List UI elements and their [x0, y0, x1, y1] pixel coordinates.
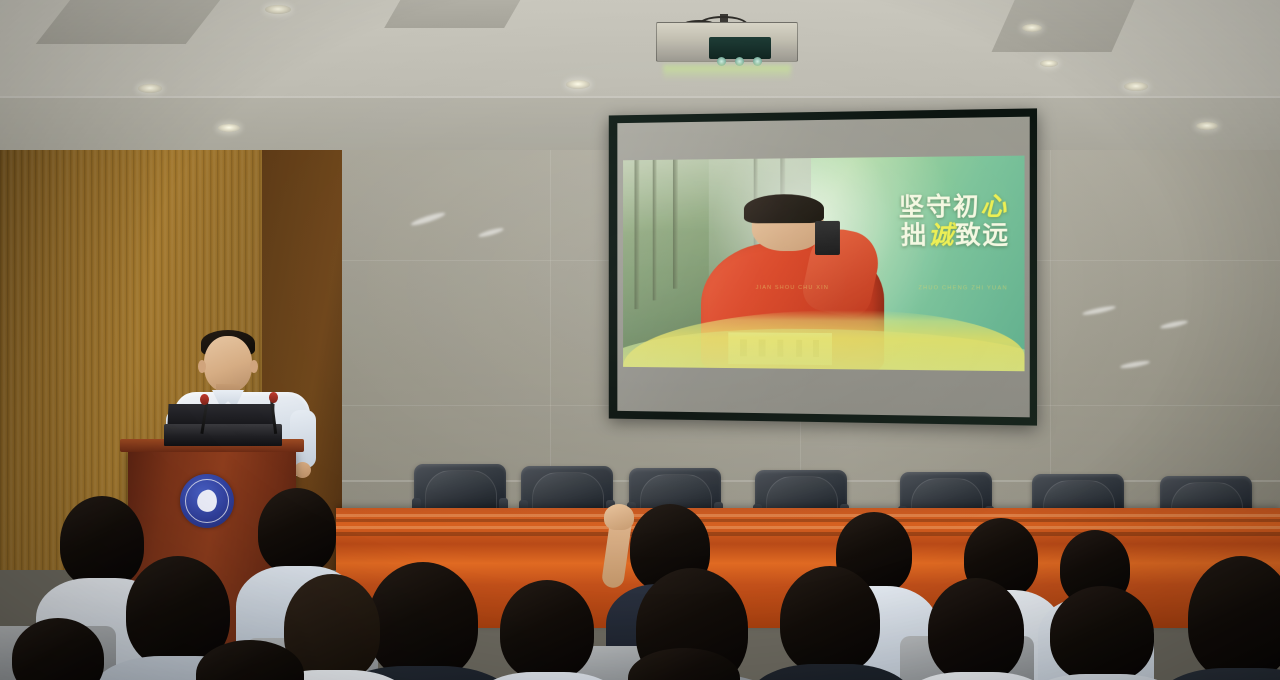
desk-moulding: [336, 519, 1280, 522]
desk-moulding: [336, 514, 1280, 517]
slide-headline-line-1: 坚守初心: [772, 192, 1008, 222]
projector-lens-glow: [663, 65, 791, 81]
projector-panel: [709, 37, 771, 59]
downlight-icon: [218, 124, 240, 132]
audience-shoulders: [1158, 668, 1280, 680]
light-reflection: [1082, 305, 1116, 317]
ceiling-beam: [992, 0, 1145, 52]
downlight-icon: [1040, 60, 1058, 67]
podium-emblem: [180, 474, 234, 528]
screen-surface: 坚守初心 拙诚致远 JIAN SHOU CHU XIN ZHUO CHENG Z…: [617, 117, 1029, 418]
slide-headline-line-2: 拙诚致远: [772, 221, 1010, 250]
laptop[interactable]: [164, 424, 282, 446]
downlight-icon: [566, 80, 590, 89]
desk-moulding: [336, 532, 1280, 536]
audience-head: [780, 566, 880, 674]
pinyin-right: ZHUO CHENG ZHI YUAN: [918, 285, 1007, 291]
projection-screen[interactable]: 坚守初心 拙诚致远 JIAN SHOU CHU XIN ZHUO CHENG Z…: [609, 108, 1037, 425]
forest-tree: [634, 160, 639, 309]
ceiling-beam: [36, 0, 234, 44]
microphone-head-icon: [269, 392, 278, 403]
pinyin-left: JIAN SHOU CHU XIN: [756, 284, 829, 290]
audience-head: [60, 496, 144, 588]
downlight-icon: [138, 84, 162, 93]
audience-hand-icon: [604, 504, 634, 530]
presenter-ear: [198, 360, 206, 373]
microphone-head-icon: [200, 394, 209, 405]
desk-moulding: [336, 526, 1280, 529]
downlight-icon: [1124, 82, 1148, 91]
light-reflection: [1160, 319, 1188, 330]
audience-head: [368, 562, 478, 680]
panel-seam: [550, 150, 551, 490]
audience-head: [258, 488, 336, 574]
light-reflection: [1120, 359, 1150, 369]
presenter-hand: [294, 462, 311, 478]
slide-headline: 坚守初心 拙诚致远: [772, 192, 1008, 250]
light-reflection: [410, 211, 446, 228]
ceiling-beam: [384, 0, 532, 28]
forest-tree: [673, 160, 678, 289]
panel-seam: [1050, 150, 1051, 490]
light-reflection: [478, 227, 504, 239]
emblem-symbol-icon: [195, 488, 219, 514]
slide-pinyin: JIAN SHOU CHU XIN ZHUO CHENG ZHI YUAN: [756, 284, 1008, 291]
audience-head: [500, 580, 594, 680]
projected-slide: 坚守初心 拙诚致远 JIAN SHOU CHU XIN ZHUO CHENG Z…: [623, 156, 1024, 372]
conference-hall-photo: 坚守初心 拙诚致远 JIAN SHOU CHU XIN ZHUO CHENG Z…: [0, 0, 1280, 680]
ceiling-projector: [656, 14, 796, 60]
audience-head: [1188, 556, 1280, 680]
forest-tree: [653, 160, 657, 301]
audience-head: [1050, 586, 1154, 680]
downlight-icon: [1196, 122, 1218, 130]
laptop-screen[interactable]: [167, 404, 274, 426]
downlight-icon: [265, 5, 291, 14]
audience-head: [928, 578, 1024, 680]
downlight-icon: [1022, 24, 1042, 32]
presenter-ear: [250, 360, 258, 373]
projector-body: [656, 22, 798, 62]
